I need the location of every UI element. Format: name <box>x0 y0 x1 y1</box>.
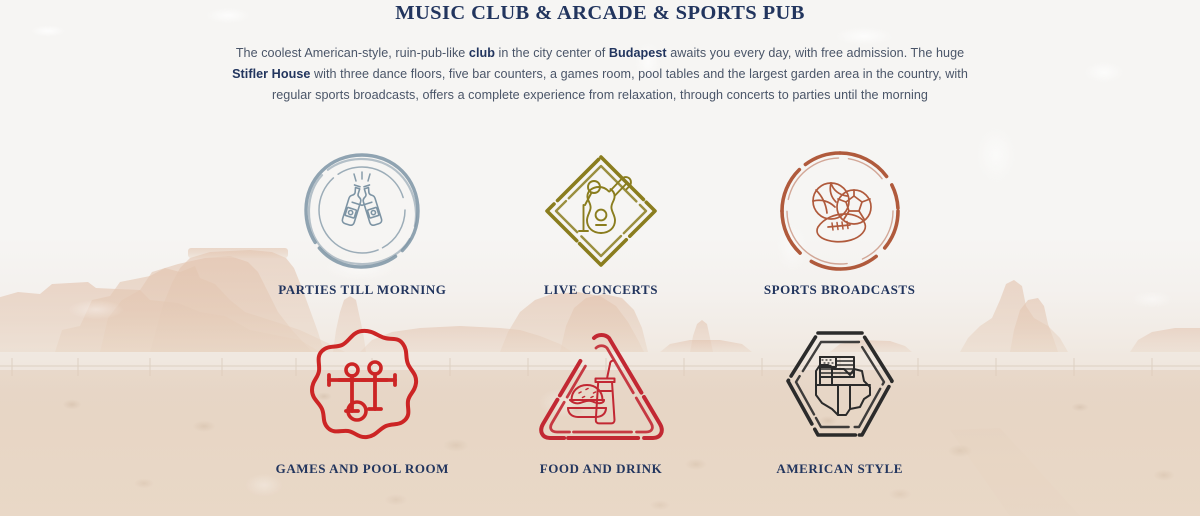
feature-label: PARTIES TILL MORNING <box>247 282 477 298</box>
usa-map-with-flag-icon <box>770 321 910 451</box>
intro-paragraph: The coolest American-style, ruin-pub-lik… <box>220 43 980 106</box>
clinking-beer-bottles-icon <box>292 146 432 276</box>
feature-label: LIVE CONCERTS <box>486 282 716 298</box>
burger-and-soda-icon <box>531 321 671 451</box>
feature-label: GAMES AND POOL ROOM <box>247 461 477 477</box>
intro-highlight-stifler-house: Stifler House <box>232 67 310 81</box>
foosball-players-icon <box>292 321 432 451</box>
guitar-and-microphone-icon <box>531 146 671 276</box>
feature-american-style[interactable]: AMERICAN STYLE <box>725 321 955 496</box>
intro-highlight-club: club <box>469 46 495 60</box>
feature-label: SPORTS BROADCASTS <box>725 282 955 298</box>
intro-text-1: The coolest American-style, ruin-pub-lik… <box>236 46 469 60</box>
feature-label: FOOD AND DRINK <box>486 461 716 477</box>
page-content: MUSIC CLUB & ARCADE & SPORTS PUB The coo… <box>0 0 1200 516</box>
page-title: MUSIC CLUB & ARCADE & SPORTS PUB <box>0 0 1200 25</box>
feature-parties-till-morning[interactable]: PARTIES TILL MORNING <box>247 146 477 321</box>
feature-grid: PARTIES TILL MORNING <box>243 146 959 496</box>
intro-text-2: in the city center of <box>495 46 609 60</box>
feature-food-and-drink[interactable]: FOOD AND DRINK <box>486 321 716 496</box>
feature-sports-broadcasts[interactable]: SPORTS BROADCASTS <box>725 146 955 321</box>
intro-text-4: with three dance floors, five bar counte… <box>272 67 968 102</box>
basketball-soccer-football-icon <box>770 146 910 276</box>
feature-label: AMERICAN STYLE <box>725 461 955 477</box>
intro-highlight-budapest: Budapest <box>609 46 667 60</box>
intro-text-3: awaits you every day, with free admissio… <box>667 46 965 60</box>
feature-live-concerts[interactable]: LIVE CONCERTS <box>486 146 716 321</box>
feature-games-and-pool-room[interactable]: GAMES AND POOL ROOM <box>247 321 477 496</box>
